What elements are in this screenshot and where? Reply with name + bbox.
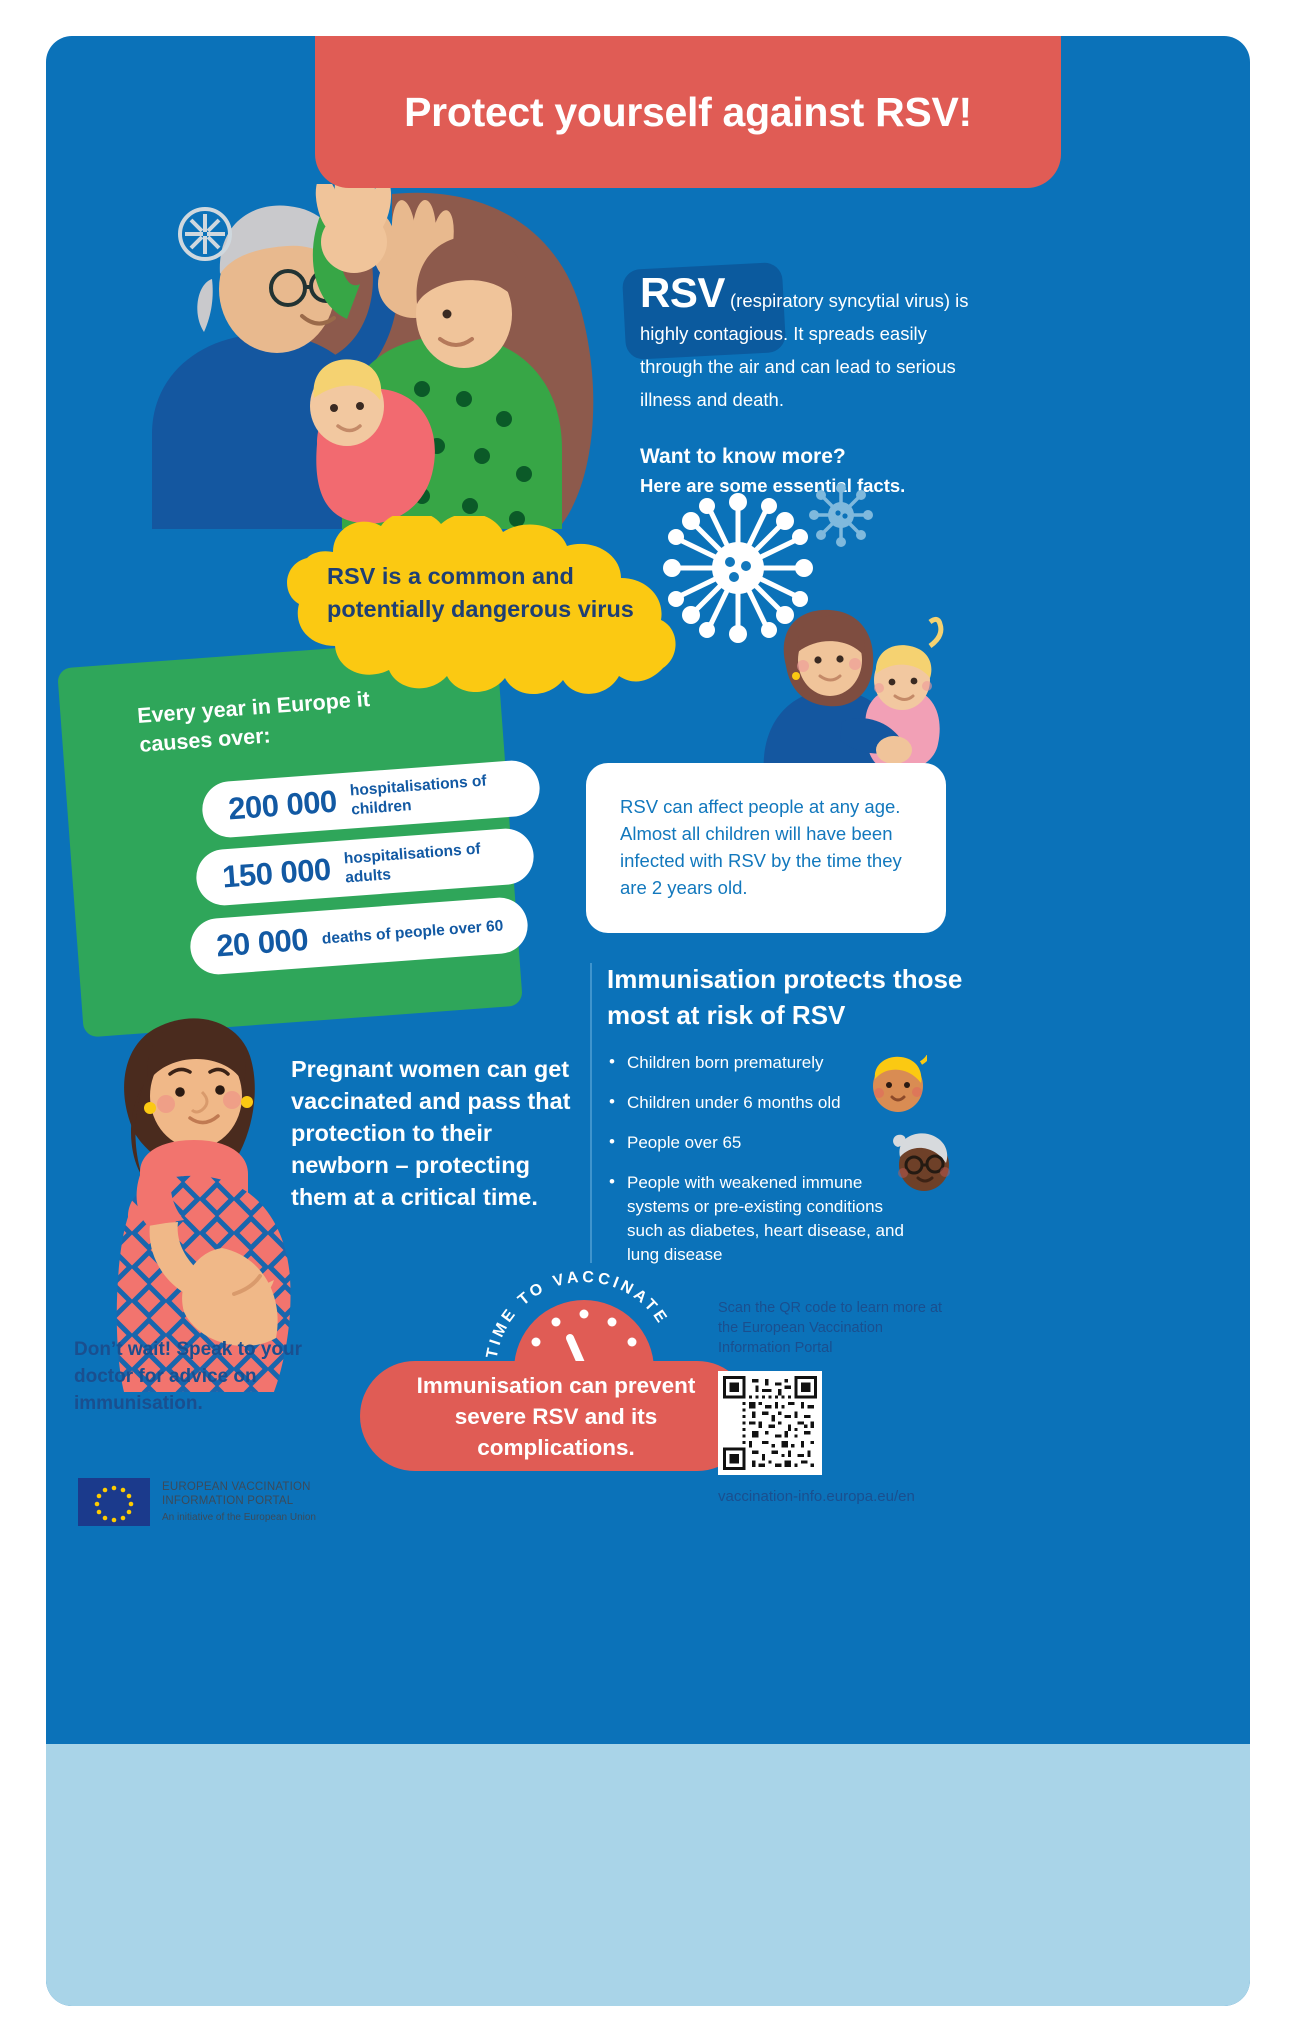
poster-canvas: Protect yourself against RSV! RSV (respi… (46, 36, 1250, 2006)
stat-number: 20 000 (189, 922, 309, 967)
cta-text: Immunisation can prevent severe RSV and … (360, 1370, 752, 1463)
logo-line-2: INFORMATION PORTAL (162, 1494, 316, 1508)
info-card-text: RSV can affect people at any age. Almost… (620, 793, 912, 901)
stat-label: hospitalisations of adults (329, 836, 535, 889)
portal-url[interactable]: vaccination-info.europa.eu/en (718, 1488, 958, 1505)
eu-logo: EUROPEAN VACCINATION INFORMATION PORTAL … (78, 1478, 316, 1526)
info-card: RSV can affect people at any age. Almost… (586, 763, 946, 933)
cloud-text: RSV is a common and potentially dangerou… (327, 560, 667, 626)
list-item: Children born prematurely (607, 1051, 907, 1075)
stat-label: deaths of people over 60 (307, 915, 522, 950)
granny-head-icon (892, 1131, 954, 1198)
stat-label: hospitalisations of children (335, 768, 541, 821)
immunisation-heading: Immunisation protects those most at risk… (607, 961, 977, 1033)
logo-line-1: EUROPEAN VACCINATION (162, 1480, 316, 1494)
list-item: People over 65 (607, 1131, 907, 1155)
cloud-callout: RSV is a common and potentially dangerou… (277, 516, 697, 696)
qr-caption: Scan the QR code to learn more at the Eu… (718, 1298, 958, 1358)
virus-particle-small-icon (808, 482, 874, 553)
footer-band (46, 1744, 1250, 2006)
baby-head-icon (869, 1055, 927, 1118)
qr-code-icon[interactable] (718, 1371, 822, 1475)
dont-wait-text: Don’t wait! Speak to your doctor for adv… (74, 1336, 304, 1417)
stat-number: 200 000 (201, 784, 338, 830)
qr-block: Scan the QR code to learn more at the Eu… (718, 1298, 958, 1505)
rsv-poster: Protect yourself against RSV! RSV (respi… (0, 0, 1296, 2043)
list-item: Children under 6 months old (607, 1091, 907, 1115)
section-divider (590, 963, 592, 1263)
intro-block: RSV (respiratory syncytial virus) is hig… (640, 276, 970, 500)
title-banner: Protect yourself against RSV! (315, 36, 1061, 188)
eu-flag-icon (78, 1478, 150, 1526)
know-more-heading: Want to know more? (640, 442, 970, 471)
stat-number: 150 000 (195, 852, 332, 898)
eu-logo-text: EUROPEAN VACCINATION INFORMATION PORTAL … (162, 1480, 316, 1525)
cta-pill: Immunisation can prevent severe RSV and … (360, 1361, 752, 1471)
pregnancy-text: Pregnant women can get vaccinated and pa… (291, 1053, 571, 1213)
rsv-acronym: RSV (640, 269, 725, 316)
immunisation-risk-list: Children born prematurely Children under… (607, 1051, 907, 1283)
intro-paragraph: RSV (respiratory syncytial virus) is hig… (640, 276, 970, 416)
page-title: Protect yourself against RSV! (404, 89, 972, 136)
logo-line-3: An initiative of the European Union (162, 1510, 316, 1525)
